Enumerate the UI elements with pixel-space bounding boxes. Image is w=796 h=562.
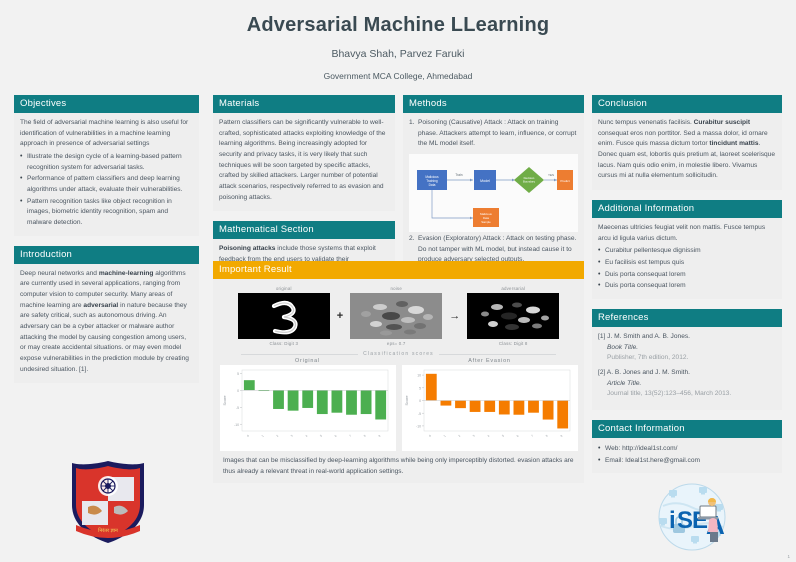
section-materials-title: Materials xyxy=(213,95,395,113)
chart-after-evasion: After Evasion 1050-5-10Score0123456789 xyxy=(402,358,578,451)
objectives-list: Illustrate the design cycle of a learnin… xyxy=(20,152,193,229)
svg-text:निरंतर ज्ञान: निरंतर ज्ञान xyxy=(98,527,118,534)
mnist-caption-top: noise xyxy=(350,286,442,291)
section-objectives: Objectives The field of adversarial mach… xyxy=(14,95,199,236)
section-additional-information: Additional Information Maecenas ultricie… xyxy=(592,200,782,299)
svg-text:1: 1 xyxy=(260,434,264,438)
svg-text:5: 5 xyxy=(318,434,322,438)
svg-text:10: 10 xyxy=(417,374,421,378)
svg-text:Boundary: Boundary xyxy=(523,180,536,184)
section-introduction-body: Deep neural networks and machine-learnin… xyxy=(14,264,199,384)
svg-text:8: 8 xyxy=(544,434,548,438)
svg-text:0: 0 xyxy=(237,389,239,393)
svg-text:Predict: Predict xyxy=(560,179,570,183)
svg-text:-5: -5 xyxy=(235,406,238,410)
section-contact-body: Web: http://ideal1st.com/ Email: Ideal1s… xyxy=(592,438,782,473)
svg-text:0: 0 xyxy=(427,434,431,438)
list-item: Illustrate the design cycle of a learnin… xyxy=(20,152,193,173)
mnist-panel-noise: noise xyxy=(350,286,442,346)
noise-image xyxy=(350,293,442,339)
svg-text:Data: Data xyxy=(429,183,436,187)
svg-text:5: 5 xyxy=(237,372,239,376)
isea-logo: i S E A xyxy=(653,482,731,552)
svg-text:4: 4 xyxy=(304,434,308,438)
conclusion-paragraph: Nunc tempus venenatis facilisis. Curabit… xyxy=(598,118,776,182)
section-objectives-title: Objectives xyxy=(14,95,199,113)
poster-header: Adversarial Machine LLearning Bhavya Sha… xyxy=(0,0,796,81)
page-number: 1 xyxy=(787,554,790,559)
reference-entry: [1] J. M. Smith and A. B. Jones. Book Ti… xyxy=(598,332,776,364)
conclusion-text-a: Nunc tempus venenatis facilisis. xyxy=(598,119,694,126)
methods-list: Poisoning (Causative) Attack : Attack on… xyxy=(409,118,578,150)
svg-text:Model: Model xyxy=(480,179,490,183)
digit-three-image xyxy=(238,293,330,339)
reference-source: Publisher, 7th edition, 2012. xyxy=(598,353,776,364)
section-additional-body: Maecenas ultricies feugiat velit non mat… xyxy=(592,218,782,299)
intro-bold-machine-learning: machine-learning xyxy=(99,270,154,277)
svg-text:3: 3 xyxy=(471,434,475,438)
svg-text:0: 0 xyxy=(245,434,249,438)
svg-text:i: i xyxy=(669,507,676,534)
column-right: Conclusion Nunc tempus venenatis facilis… xyxy=(592,95,782,483)
svg-text:-10: -10 xyxy=(416,425,421,429)
svg-text:2: 2 xyxy=(275,434,279,438)
section-important-result-body: original Class: Digit 3 + xyxy=(213,279,584,483)
mnist-panel-original: original Class: Digit 3 xyxy=(238,286,330,346)
list-item: Eu facilisis est tempus quis xyxy=(598,258,776,269)
section-mathematical-title: Mathematical Section xyxy=(213,221,395,239)
svg-text:Score: Score xyxy=(223,396,227,406)
section-important-result-title: Important Result xyxy=(213,261,584,279)
additional-list: Curabitur pellentesque dignissim Eu faci… xyxy=(598,246,776,292)
section-introduction: Introduction Deep neural networks and ma… xyxy=(14,246,199,384)
reference-authors: [1] J. M. Smith and A. B. Jones. xyxy=(598,332,776,343)
section-materials: Materials Pattern classifiers can be sig… xyxy=(213,95,395,211)
section-introduction-title: Introduction xyxy=(14,246,199,264)
section-conclusion: Conclusion Nunc tempus venenatis facilis… xyxy=(592,95,782,190)
reference-source: Journal title, 13(52):123–456, March 201… xyxy=(598,389,776,400)
svg-text:Train: Train xyxy=(455,173,462,177)
intro-text-e: in nature because they are safety critic… xyxy=(20,302,189,373)
classification-scores-label: Classification scores xyxy=(219,351,578,357)
list-item: Duis porta consequat lorem xyxy=(598,281,776,292)
svg-text:S: S xyxy=(677,507,693,534)
chart-original: Original 50-5-10Score0123456789 xyxy=(220,358,396,451)
mnist-caption-bottom: Class: Digit 8 xyxy=(467,341,559,346)
chart-original-title: Original xyxy=(220,358,396,364)
svg-text:-10: -10 xyxy=(234,423,239,427)
reference-title: Article Title. xyxy=(598,379,776,390)
mnist-example-row: original Class: Digit 3 + xyxy=(219,283,578,348)
intro-bold-adversarial: adversarial xyxy=(83,302,118,309)
svg-text:0: 0 xyxy=(419,399,421,403)
section-objectives-body: The field of adversarial machine learnin… xyxy=(14,113,199,236)
materials-text: Pattern classifiers can be significantly… xyxy=(219,118,389,203)
section-conclusion-title: Conclusion xyxy=(592,95,782,113)
svg-text:5: 5 xyxy=(500,434,504,438)
section-references-body: [1] J. M. Smith and A. B. Jones. Book Ti… xyxy=(592,327,782,410)
additional-intro: Maecenas ultricies feugiat velit non mat… xyxy=(598,223,776,244)
svg-text:5: 5 xyxy=(419,386,421,390)
chart-original-svg: 50-5-10Score0123456789 xyxy=(220,365,396,451)
svg-text:2: 2 xyxy=(457,434,461,438)
svg-text:Score: Score xyxy=(405,396,409,406)
svg-text:9: 9 xyxy=(559,434,563,438)
introduction-paragraph: Deep neural networks and machine-learnin… xyxy=(20,269,193,376)
affiliation-line: Government MCA College, Ahmedabad xyxy=(0,71,796,81)
section-important-result: Important Result original xyxy=(213,261,584,483)
gtu-crest-logo: निरंतर ज्ञान xyxy=(62,455,154,547)
adversarial-image xyxy=(467,293,559,339)
contact-email-link[interactable]: Email: Ideal1st.here@gmail.com xyxy=(598,456,776,467)
svg-text:-5: -5 xyxy=(417,412,420,416)
section-methods-title: Methods xyxy=(403,95,584,113)
svg-text:1: 1 xyxy=(442,434,446,438)
section-materials-body: Pattern classifiers can be significantly… xyxy=(213,113,395,211)
section-references: References [1] J. M. Smith and A. B. Jon… xyxy=(592,309,782,410)
svg-text:7: 7 xyxy=(530,434,534,438)
chart-evasion-title: After Evasion xyxy=(402,358,578,364)
mnist-caption-bottom: eps= 0.7 xyxy=(350,341,442,346)
mnist-caption-top: original xyxy=(238,286,330,291)
reference-title: Book Title. xyxy=(598,343,776,354)
svg-text:4: 4 xyxy=(486,434,490,438)
mnist-caption-top: adversarial xyxy=(467,286,559,291)
svg-text:6: 6 xyxy=(333,434,337,438)
authors-line: Bhavya Shah, Parvez Faruki xyxy=(0,48,796,60)
list-item: Performance of pattern classifiers and d… xyxy=(20,174,193,195)
list-item: Curabitur pellentesque dignissim xyxy=(598,246,776,257)
conclusion-bold-1: Curabitur suscipit xyxy=(694,119,750,126)
list-item: Poisoning (Causative) Attack : Attack on… xyxy=(409,118,578,150)
reference-authors: [2] A. B. Jones and J. M. Smith. xyxy=(598,368,776,379)
section-contact-information: Contact Information Web: http://ideal1st… xyxy=(592,420,782,473)
svg-text:Sample: Sample xyxy=(481,220,491,224)
section-references-title: References xyxy=(592,309,782,327)
svg-text:7: 7 xyxy=(348,434,352,438)
classification-charts-row: Original 50-5-10Score0123456789 After Ev… xyxy=(219,358,578,451)
math-bold-poisoning: Poisoning attacks xyxy=(219,245,275,252)
contact-list: Web: http://ideal1st.com/ Email: Ideal1s… xyxy=(598,444,776,466)
intro-text-a: Deep neural networks and xyxy=(20,270,99,277)
svg-text:3: 3 xyxy=(289,434,293,438)
conclusion-bold-2: tincidunt mattis xyxy=(709,140,758,147)
poster-canvas: Adversarial Machine LLearning Bhavya Sha… xyxy=(0,0,796,562)
mnist-caption-bottom: Class: Digit 3 xyxy=(238,341,330,346)
plus-icon: + xyxy=(336,310,344,322)
chart-evasion-svg: 1050-5-10Score0123456789 xyxy=(402,365,578,451)
column-left: Objectives The field of adversarial mach… xyxy=(14,95,199,393)
mnist-panel-adversarial: adversarial xyxy=(467,286,559,346)
svg-text:8: 8 xyxy=(362,434,366,438)
objectives-intro: The field of adversarial machine learnin… xyxy=(20,118,193,150)
poisoning-attack-diagram: Malicious Training Data Train Model xyxy=(409,154,578,232)
reference-entry: [2] A. B. Jones and J. M. Smith. Article… xyxy=(598,368,776,400)
section-contact-title: Contact Information xyxy=(592,420,782,438)
list-item: Pattern recognition tasks like object re… xyxy=(20,197,193,229)
svg-text:9: 9 xyxy=(377,434,381,438)
contact-web-link[interactable]: Web: http://ideal1st.com/ xyxy=(598,444,776,455)
scores-label-text: Classification scores xyxy=(358,351,439,357)
result-caption: Images that can be misclassified by deep… xyxy=(219,451,578,477)
page-title: Adversarial Machine LLearning xyxy=(0,14,796,37)
section-conclusion-body: Nunc tempus venenatis facilisis. Curabit… xyxy=(592,113,782,190)
svg-text:6: 6 xyxy=(515,434,519,438)
section-additional-title: Additional Information xyxy=(592,200,782,218)
list-item: Duis porta consequat lorem xyxy=(598,270,776,281)
svg-text:YES: YES xyxy=(548,173,554,177)
arrow-right-icon: → xyxy=(448,310,461,322)
